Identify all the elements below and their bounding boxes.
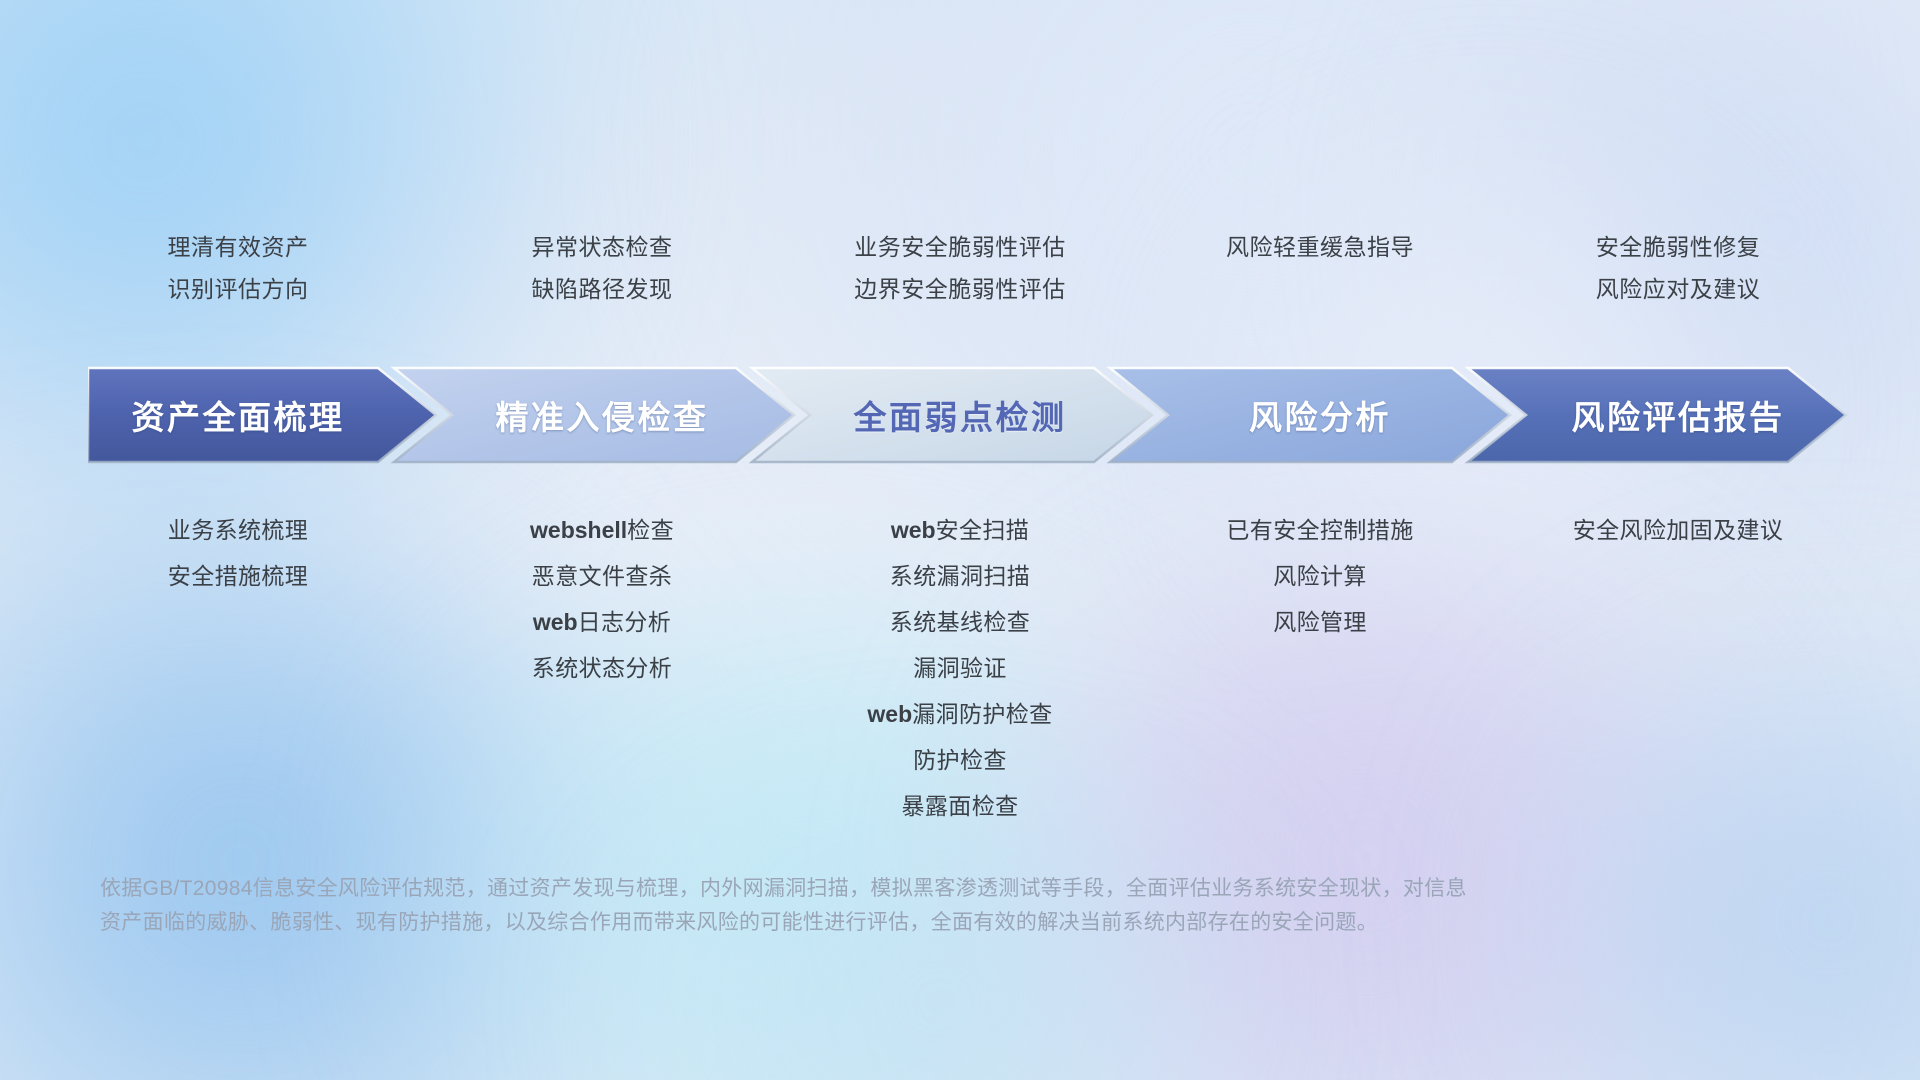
detail-item: 漏洞验证 [913, 653, 1007, 684]
top-caption-column-intrusion-check: 异常状态检查缺陷路径发现 [452, 232, 752, 305]
diagram-content: 理清有效资产识别评估方向异常状态检查缺陷路径发现业务安全脆弱性评估边界安全脆弱性… [0, 0, 1920, 1080]
detail-column-asset-inventory: 业务系统梳理安全措施梳理 [88, 515, 388, 592]
stage-title-4[interactable]: 风险评估报告 [1528, 365, 1828, 465]
stage-title-3[interactable]: 风险分析 [1170, 365, 1470, 465]
detail-column-intrusion-check: webshell检查恶意文件查杀web日志分析系统状态分析 [452, 515, 752, 684]
top-caption-column-weakness-detection: 业务安全脆弱性评估边界安全脆弱性评估 [810, 232, 1110, 305]
detail-item: 风险计算 [1273, 561, 1367, 592]
stage-title-0[interactable]: 资产全面梳理 [88, 365, 388, 465]
stage-title-1[interactable]: 精准入侵检查 [452, 365, 752, 465]
top-caption-item: 风险轻重缓急指导 [1226, 232, 1414, 263]
footer-line-2: 资产面临的威胁、脆弱性、现有防护措施，以及综合作用而带来风险的可能性进行评估，全… [100, 906, 1720, 940]
detail-item: 业务系统梳理 [168, 515, 308, 546]
top-caption-item: 理清有效资产 [168, 232, 309, 263]
detail-column-weakness-detection: web安全扫描系统漏洞扫描系统基线检查漏洞验证web漏洞防护检查防护检查暴露面检… [810, 515, 1110, 822]
top-caption-item: 识别评估方向 [168, 274, 309, 305]
detail-item: 系统漏洞扫描 [890, 561, 1030, 592]
detail-item: 恶意文件查杀 [532, 561, 672, 592]
detail-item: 已有安全控制措施 [1226, 515, 1413, 546]
detail-item: 系统状态分析 [532, 653, 672, 684]
detail-item: webshell检查 [530, 515, 674, 546]
detail-column-risk-analysis: 已有安全控制措施风险计算风险管理 [1170, 515, 1470, 638]
top-caption-column-risk-report: 安全脆弱性修复风险应对及建议 [1528, 232, 1828, 305]
top-caption-item: 风险应对及建议 [1596, 274, 1761, 305]
top-caption-column-risk-analysis: 风险轻重缓急指导 [1170, 232, 1470, 263]
detail-item: 安全措施梳理 [168, 561, 308, 592]
detail-item: 安全风险加固及建议 [1573, 515, 1784, 546]
top-caption-item: 业务安全脆弱性评估 [854, 232, 1066, 263]
top-caption-item: 边界安全脆弱性评估 [854, 274, 1066, 305]
detail-item: 防护检查 [913, 745, 1007, 776]
detail-item: 暴露面检查 [902, 791, 1019, 822]
detail-item: web安全扫描 [891, 515, 1029, 546]
top-caption-item: 缺陷路径发现 [532, 274, 673, 305]
top-caption-item: 异常状态检查 [532, 232, 673, 263]
footer-description: 依据GB/T20984信息安全风险评估规范，通过资产发现与梳理，内外网漏洞扫描，… [100, 872, 1720, 940]
top-caption-column-asset-inventory: 理清有效资产识别评估方向 [88, 232, 388, 305]
detail-item: web漏洞防护检查 [867, 699, 1052, 730]
top-caption-item: 安全脆弱性修复 [1596, 232, 1761, 263]
detail-item: 风险管理 [1273, 607, 1367, 638]
detail-item: web日志分析 [533, 607, 671, 638]
slide-canvas: 理清有效资产识别评估方向异常状态检查缺陷路径发现业务安全脆弱性评估边界安全脆弱性… [0, 0, 1920, 1080]
detail-column-risk-report: 安全风险加固及建议 [1528, 515, 1828, 546]
footer-line-1: 依据GB/T20984信息安全风险评估规范，通过资产发现与梳理，内外网漏洞扫描，… [100, 872, 1720, 906]
stage-title-2[interactable]: 全面弱点检测 [810, 365, 1110, 465]
detail-item: 系统基线检查 [890, 607, 1030, 638]
